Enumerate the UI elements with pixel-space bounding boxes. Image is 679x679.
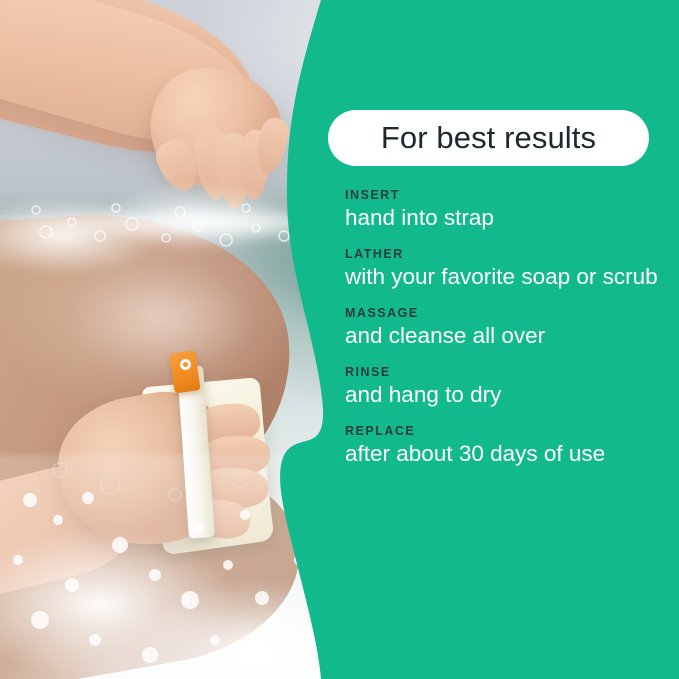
- step-label: INSERT: [345, 188, 665, 202]
- step-massage: MASSAGE and cleanse all over: [345, 306, 665, 349]
- steps-list: INSERT hand into strap LATHER with your …: [345, 188, 665, 483]
- step-rinse: RINSE and hang to dry: [345, 365, 665, 408]
- step-lather: LATHER with your favorite soap or scrub: [345, 247, 665, 290]
- step-text: and cleanse all over: [345, 323, 665, 349]
- step-text: hand into strap: [345, 205, 665, 231]
- step-label: RINSE: [345, 365, 665, 379]
- instructions-content: For best results INSERT hand into strap …: [345, 0, 665, 679]
- product-instruction-graphic: For best results INSERT hand into strap …: [0, 0, 679, 679]
- step-text: with your favorite soap or scrub: [345, 264, 665, 290]
- step-label: REPLACE: [345, 424, 665, 438]
- step-text: after about 30 days of use: [345, 441, 665, 467]
- step-text: and hang to dry: [345, 382, 665, 408]
- title-pill: For best results: [328, 110, 649, 166]
- step-replace: REPLACE after about 30 days of use: [345, 424, 665, 467]
- step-label: MASSAGE: [345, 306, 665, 320]
- step-insert: INSERT hand into strap: [345, 188, 665, 231]
- page-title: For best results: [381, 120, 596, 156]
- step-label: LATHER: [345, 247, 665, 261]
